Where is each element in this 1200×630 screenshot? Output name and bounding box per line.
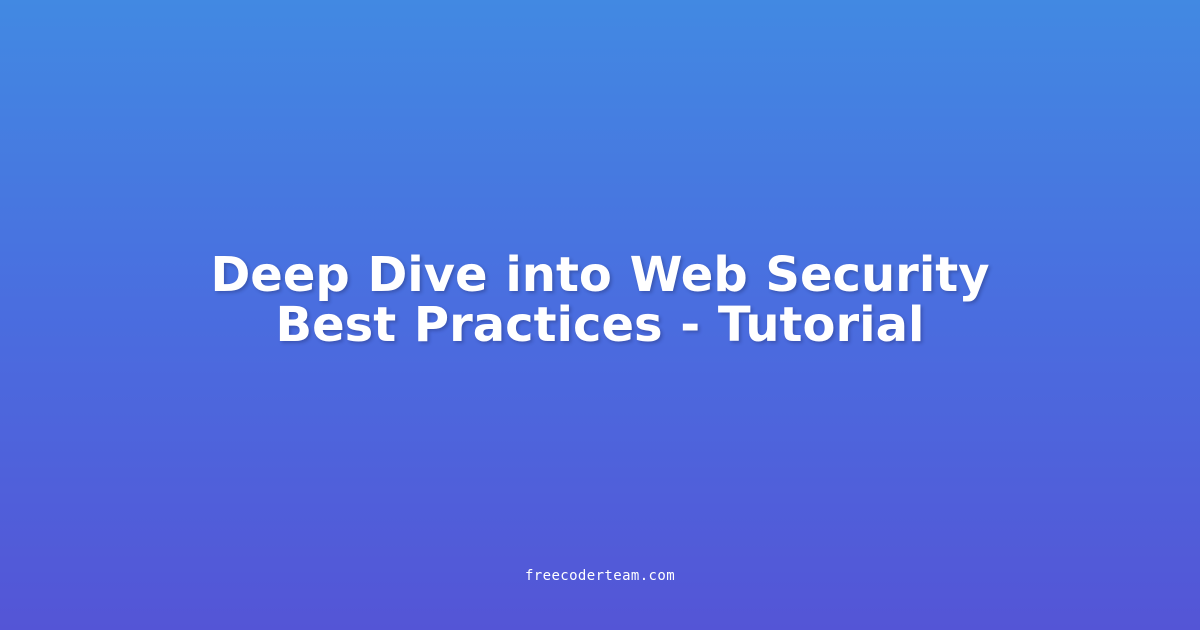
page-title: Deep Dive into Web Security Best Practic… [185,250,1015,350]
footer-container: freecoderteam.com [0,565,1200,587]
hero-title-container: Deep Dive into Web Security Best Practic… [185,250,1015,350]
og-image-card: Deep Dive into Web Security Best Practic… [0,0,1200,630]
site-domain-label: freecoderteam.com [525,568,675,584]
